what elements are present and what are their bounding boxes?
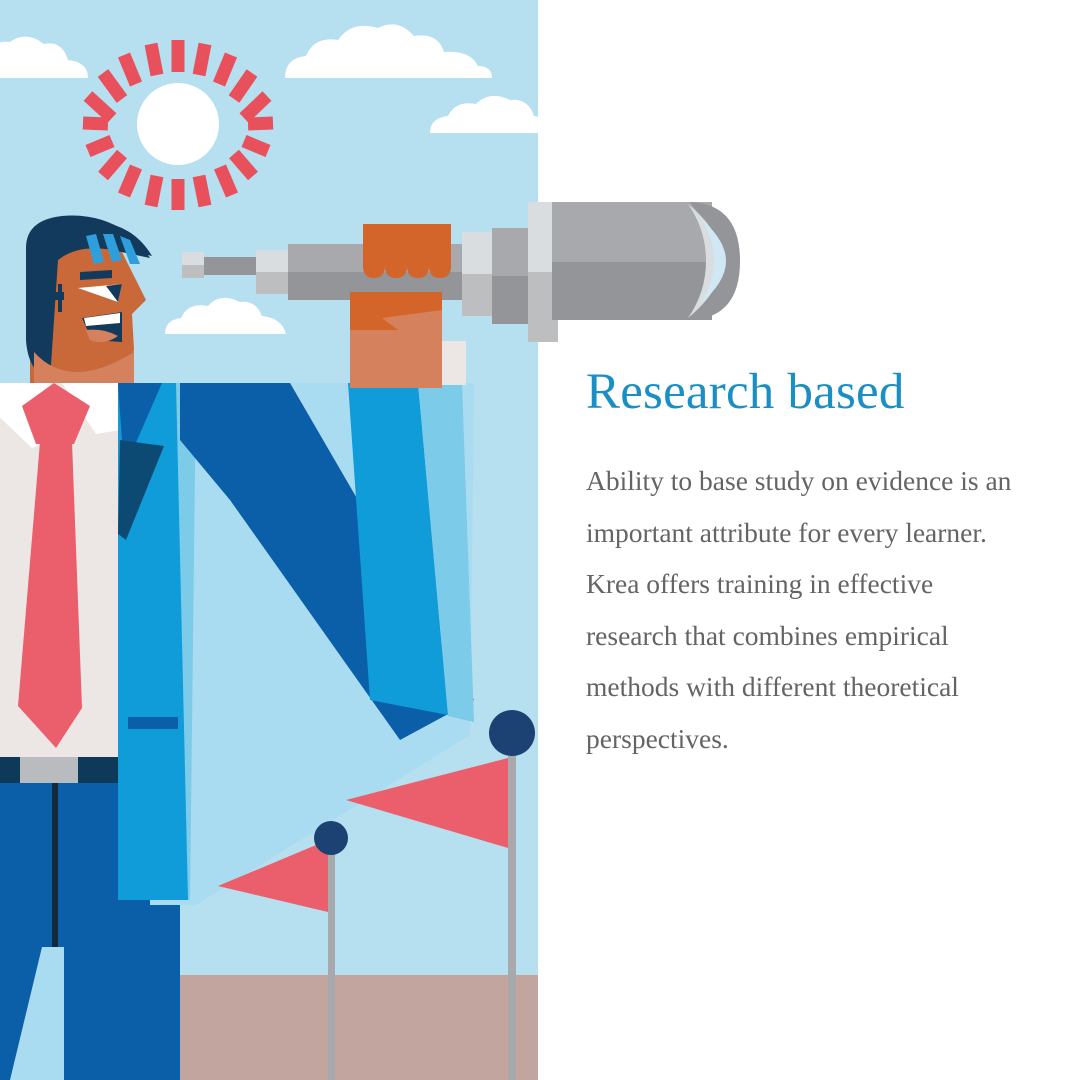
text-panel: Research based Ability to base study on … [586,0,1056,1080]
ear-detail-2 [58,284,62,312]
body-paragraph: Ability to base study on evidence is an … [586,455,1026,764]
belt-buckle [20,757,78,783]
flag-pole-left [328,838,335,1080]
page-title: Research based [586,363,905,421]
sun-disc [137,83,219,165]
flag-ball-right [489,710,535,756]
flag-ball-left [314,821,348,855]
jacket-pocket [128,717,178,729]
research-based-card: Research based Ability to base study on … [0,0,1080,1080]
illustration-panel [0,0,538,1080]
scene-svg [0,0,538,1080]
shirt-cuff [350,341,466,385]
flag-pole-right [508,726,516,1080]
trouser-seam [52,783,58,948]
